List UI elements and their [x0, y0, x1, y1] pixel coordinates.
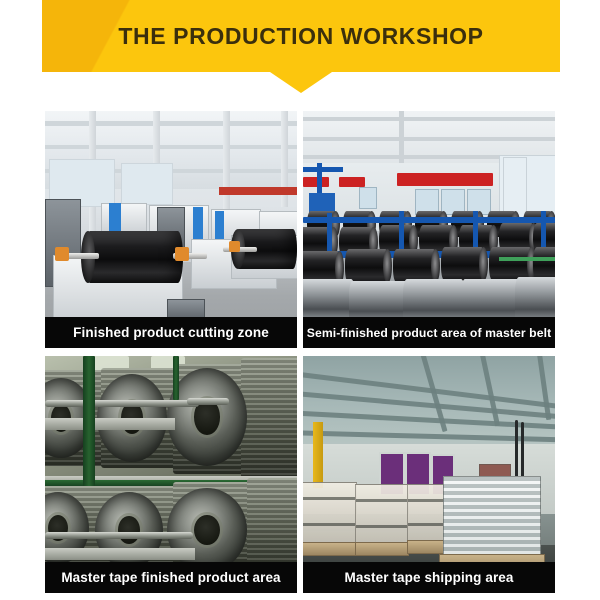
photo-finished-product-cutting-zone: Finished product cutting zone — [45, 111, 297, 348]
support-column — [223, 111, 230, 211]
photo-master-tape-shipping-area: Master tape shipping area — [303, 356, 555, 593]
blue-beam — [303, 167, 343, 172]
bearing-mount — [175, 247, 189, 261]
ceiling-beam — [45, 121, 297, 126]
red-slogan-banner — [303, 177, 329, 187]
bearing-mount — [55, 247, 69, 261]
banner-notch-triangle — [270, 72, 332, 93]
yellow-safety-post — [313, 422, 323, 488]
master-belt-roll — [393, 249, 437, 283]
tape-roll — [247, 478, 297, 574]
gallery-card-3[interactable]: Master tape finished product area — [45, 356, 297, 593]
ceiling-vent — [399, 111, 404, 163]
header-banner: THE PRODUCTION WORKSHOP — [42, 0, 560, 92]
window — [121, 163, 173, 205]
gallery-card-1[interactable]: Finished product cutting zone — [45, 111, 297, 348]
strap — [356, 525, 408, 528]
master-belt-roll — [533, 247, 555, 281]
wrapped-pallet-load — [355, 484, 409, 548]
wooden-pallet — [355, 542, 409, 556]
red-slogan-banner — [397, 173, 493, 186]
page-title: THE PRODUCTION WORKSHOP — [42, 0, 560, 72]
support-rod — [101, 532, 193, 539]
strap — [303, 523, 356, 526]
caption-bar-3: Master tape finished product area — [45, 562, 297, 593]
caption-bar-1: Finished product cutting zone — [45, 317, 297, 348]
shelf-bar — [45, 548, 195, 560]
wrapped-pallet-load — [303, 482, 357, 548]
coil-hub — [118, 516, 140, 543]
ceiling-beam — [45, 145, 297, 149]
strap — [356, 499, 408, 502]
banner-plate: THE PRODUCTION WORKSHOP — [42, 0, 560, 72]
photo-gallery-grid: Finished product cutting zone — [45, 111, 555, 593]
wall-cable — [515, 420, 518, 480]
tape-roll — [241, 358, 297, 480]
master-belt-roll — [345, 249, 389, 283]
black-roll-main — [85, 231, 183, 283]
wall-cable — [521, 422, 524, 480]
photo-semi-finished-master-belt-area: Semi-finished product area of master bel… — [303, 111, 555, 348]
photo-master-tape-finished-product-area: Master tape finished product area — [45, 356, 297, 593]
caption-bar-2: Semi-finished product area of master bel… — [303, 317, 555, 348]
caption-bar-4: Master tape shipping area — [303, 562, 555, 593]
master-belt-roll — [489, 247, 533, 281]
bearing-mount — [229, 241, 240, 252]
notice-board — [359, 187, 377, 209]
support-rod — [103, 400, 199, 407]
gallery-card-4[interactable]: Master tape shipping area — [303, 356, 555, 593]
wooden-pallet — [303, 542, 357, 556]
blue-rack-rail — [303, 217, 555, 223]
green-rack-post — [173, 356, 179, 400]
shrink-wrapped-coil-stack — [443, 476, 541, 562]
ceiling-beam — [303, 117, 555, 121]
ceiling-beam — [303, 137, 555, 141]
green-floor-line — [499, 257, 555, 261]
support-rod — [187, 398, 229, 405]
red-slogan-banner — [339, 177, 365, 187]
strap — [303, 497, 356, 500]
wall-red-banner — [219, 187, 297, 195]
gallery-card-2[interactable]: Semi-finished product area of master bel… — [303, 111, 555, 348]
machine-blue-panel — [109, 203, 121, 233]
shelf-bar — [45, 418, 175, 430]
coil-hub — [194, 515, 220, 545]
tape-coil — [167, 368, 247, 466]
master-belt-roll — [441, 247, 485, 281]
